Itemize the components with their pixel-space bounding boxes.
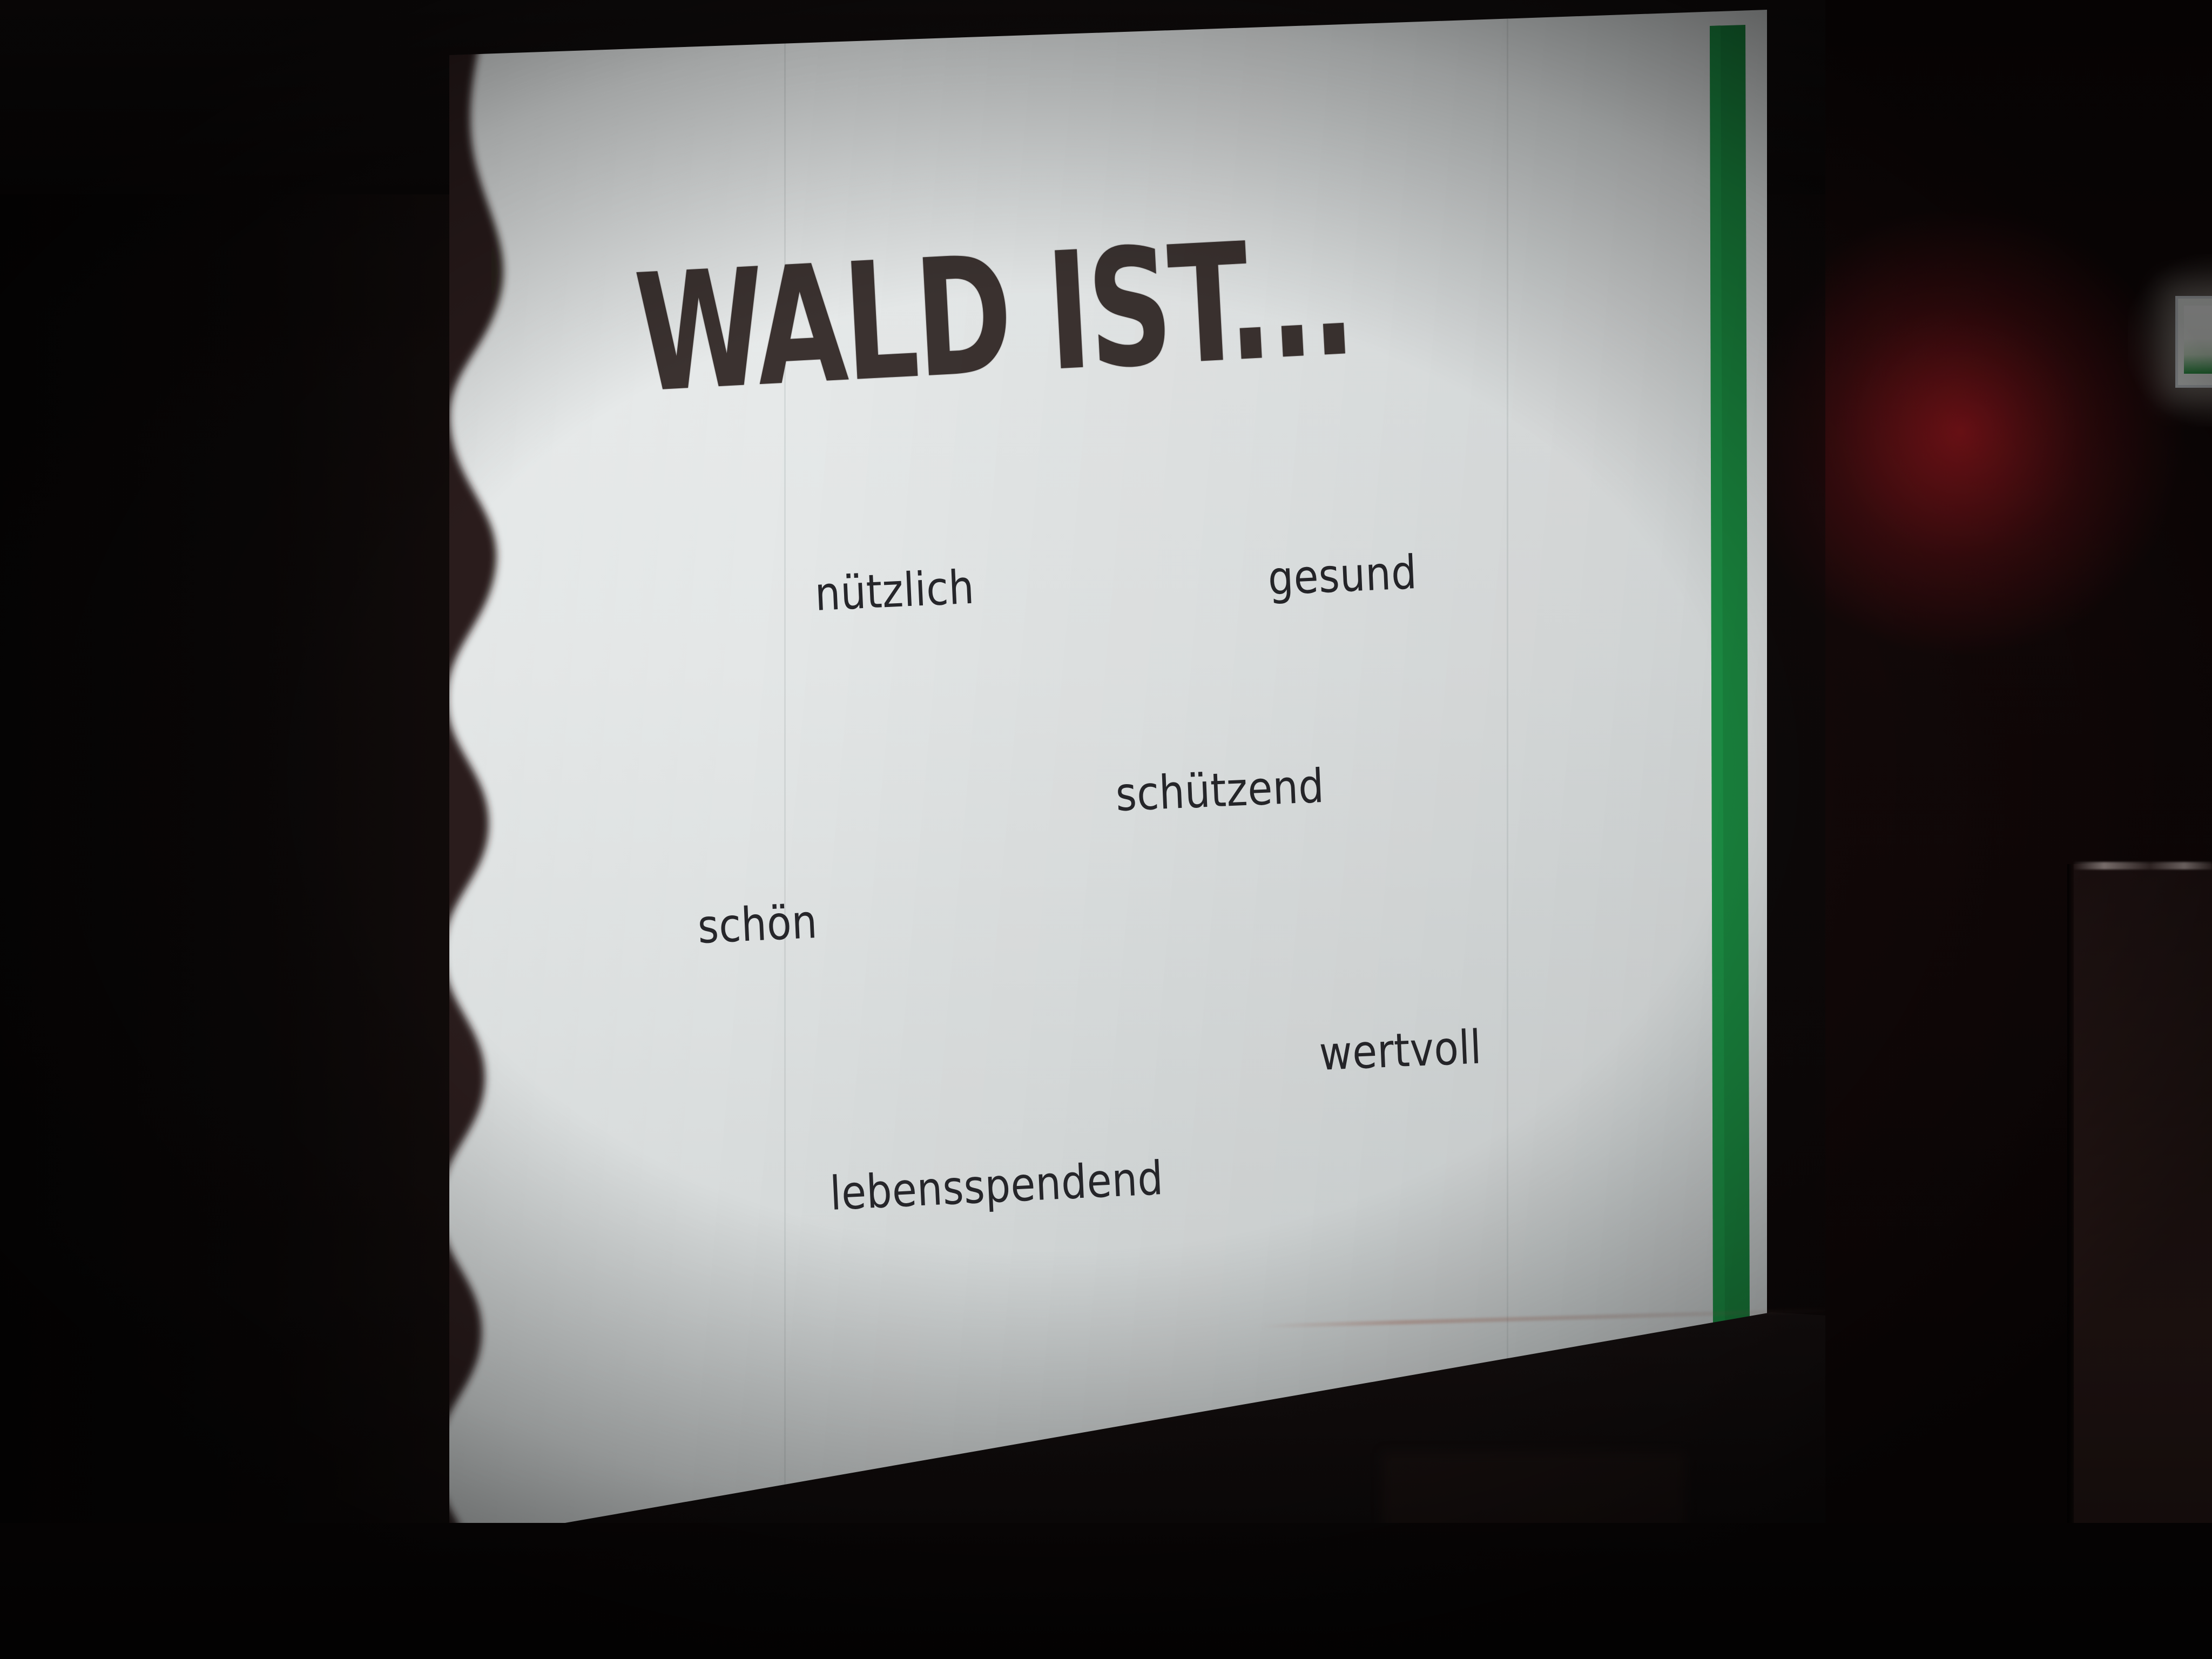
- cabinet-top-highlight: [2074, 862, 2212, 869]
- photographed-room-scene: WALD IST... nützlich gesund schützend sc…: [0, 0, 2212, 1659]
- floor-band: [0, 1523, 2212, 1659]
- exit-sign-pictogram: [2184, 306, 2212, 374]
- left-wall: [0, 0, 486, 1659]
